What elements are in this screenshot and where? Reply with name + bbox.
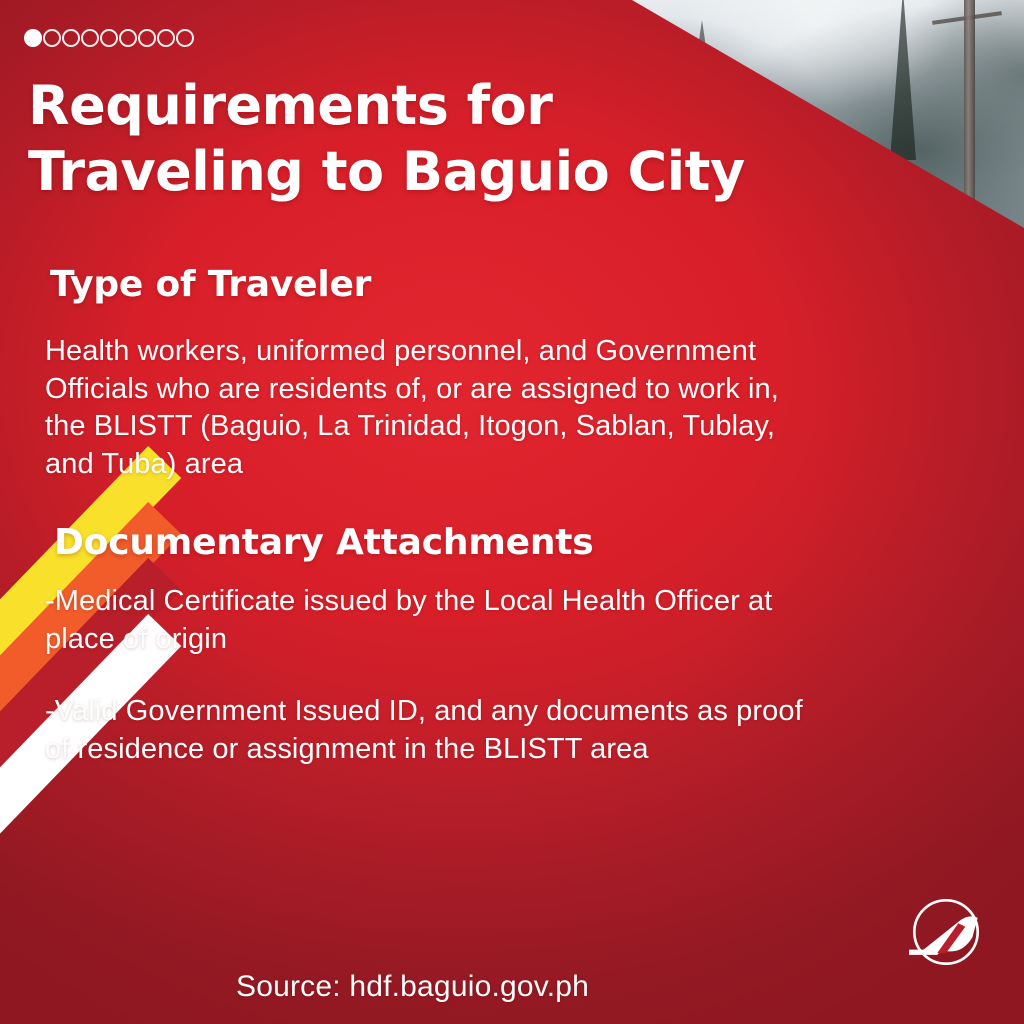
attachment-item-valid-government-id: -Valid Government Issued ID, and any doc… — [45, 693, 805, 768]
carousel-dot-7[interactable] — [138, 29, 156, 47]
attachment-item-medical-certificate: -Medical Certificate issued by the Local… — [45, 583, 805, 658]
victory-liner-logo-icon — [902, 888, 990, 976]
headline-line-2: Traveling to Baguio City — [28, 139, 748, 205]
headline-line-1: Requirements for — [28, 73, 748, 139]
carousel-dot-3[interactable] — [62, 29, 80, 47]
infographic-slide: VICTORY LINER Requirements for Traveling… — [0, 0, 1024, 1024]
section-body-type-of-traveler: Health workers, uniformed personnel, and… — [45, 333, 805, 484]
carousel-dot-1[interactable] — [24, 29, 42, 47]
carousel-dot-8[interactable] — [157, 29, 175, 47]
carousel-dot-9[interactable] — [176, 29, 194, 47]
source-credit: Source: hdf.baguio.gov.ph — [236, 970, 589, 1004]
carousel-dot-5[interactable] — [100, 29, 118, 47]
carousel-dot-6[interactable] — [119, 29, 137, 47]
carousel-dots[interactable] — [24, 29, 194, 47]
section-title-documentary-attachments: Documentary Attachments — [54, 523, 594, 563]
slide-content: Requirements for Traveling to Baguio Cit… — [0, 0, 1024, 1024]
page-title: Requirements for Traveling to Baguio Cit… — [28, 73, 748, 205]
section-title-type-of-traveler: Type of Traveler — [50, 265, 371, 305]
carousel-dot-2[interactable] — [43, 29, 61, 47]
carousel-dot-4[interactable] — [81, 29, 99, 47]
